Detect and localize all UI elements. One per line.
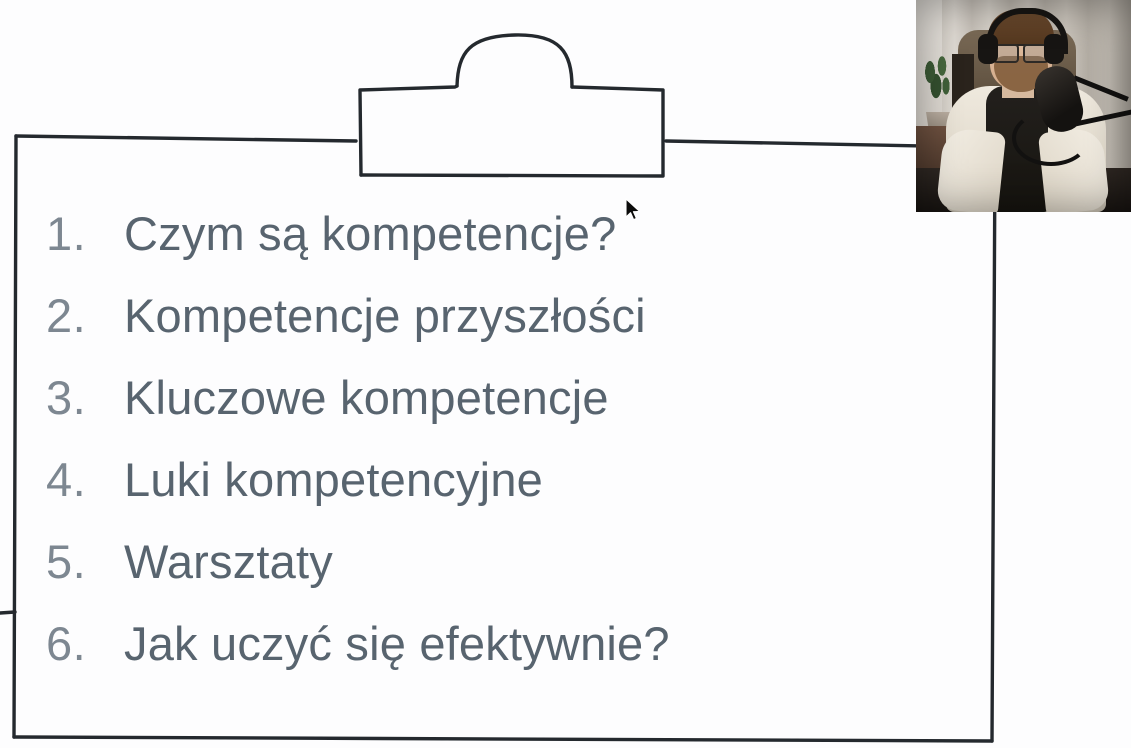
list-item-number: 1.	[46, 206, 124, 261]
list-item: 4. Luki kompetencyjne	[46, 452, 946, 534]
list-item-label: Jak uczyć się efektywnie?	[124, 616, 670, 671]
board-top-left-edge	[16, 136, 356, 141]
board-right-edge	[992, 152, 995, 741]
list-item-number: 4.	[46, 452, 124, 507]
board-left-edge	[14, 136, 16, 737]
list-item: 3. Kluczowe kompetencje	[46, 370, 946, 452]
slide-canvas: 1. Czym są kompetencje? 2. Kompetencje p…	[0, 0, 1131, 748]
list-item-number: 5.	[46, 534, 124, 589]
list-item-label: Kluczowe kompetencje	[124, 370, 609, 425]
clip-arch	[457, 35, 572, 87]
list-item-label: Luki kompetencyjne	[124, 452, 543, 507]
webcam-vignette	[916, 0, 1131, 212]
board-left-tick-mark	[0, 612, 15, 613]
list-item: 1. Czym są kompetencje?	[46, 206, 946, 288]
list-item: 5. Warsztaty	[46, 534, 946, 616]
list-item-label: Kompetencje przyszłości	[124, 288, 646, 343]
list-item-number: 3.	[46, 370, 124, 425]
agenda-list: 1. Czym są kompetencje? 2. Kompetencje p…	[46, 206, 946, 698]
list-item: 2. Kompetencje przyszłości	[46, 288, 946, 370]
board-bottom-edge	[14, 737, 992, 741]
list-item: 6. Jak uczyć się efektywnie?	[46, 616, 946, 698]
clip-left-side	[360, 86, 457, 175]
list-item-label: Czym są kompetencje?	[124, 206, 616, 261]
list-item-label: Warsztaty	[124, 534, 333, 589]
webcam-video-overlay[interactable]	[916, 0, 1131, 212]
clip-right-and-bottom	[361, 87, 663, 176]
list-item-number: 2.	[46, 288, 124, 343]
list-item-number: 6.	[46, 616, 124, 671]
